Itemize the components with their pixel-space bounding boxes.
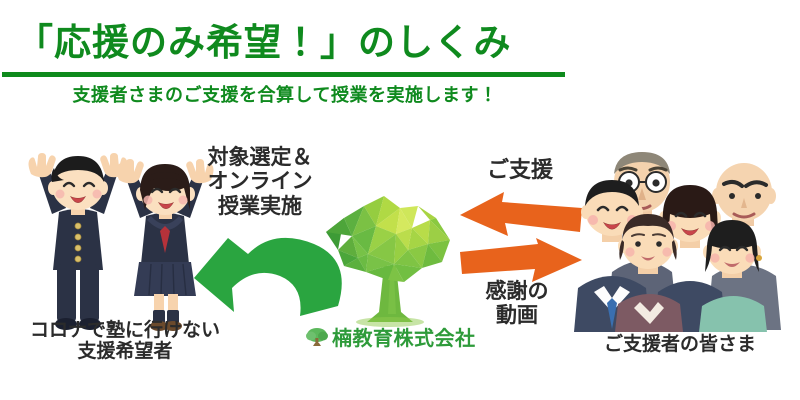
- page-subtitle: 支援者さまのご支援を合算して授業を実施します！: [35, 84, 535, 106]
- infographic-canvas: 「応援のみ希望！」のしくみ 支援者さまのご支援を合算して授業を実施します！: [0, 0, 800, 400]
- students-caption: コロナで塾に行けない 支援希望者: [0, 320, 250, 363]
- header-divider: [2, 72, 565, 77]
- students-illustration: [14, 148, 214, 338]
- page-title: 「応援のみ希望！」のしくみ: [16, 22, 511, 64]
- tree-logo-icon: [306, 327, 328, 347]
- company-logo: 楠教育株式会社: [306, 322, 476, 351]
- process-label: 対象選定＆ オンライン 授業実施: [186, 146, 334, 219]
- company-tree-illustration: [318, 188, 464, 328]
- arrow-left-icon: [458, 192, 584, 244]
- arrow-right-icon: [458, 238, 584, 286]
- support-label: ご支援: [455, 158, 585, 183]
- thanks-video-label: 感謝の 動画: [452, 280, 582, 329]
- boy-student-figure: [29, 153, 128, 330]
- supporters-caption: ご支援者の皆さま: [560, 334, 800, 355]
- supporters-illustration: [572, 148, 796, 333]
